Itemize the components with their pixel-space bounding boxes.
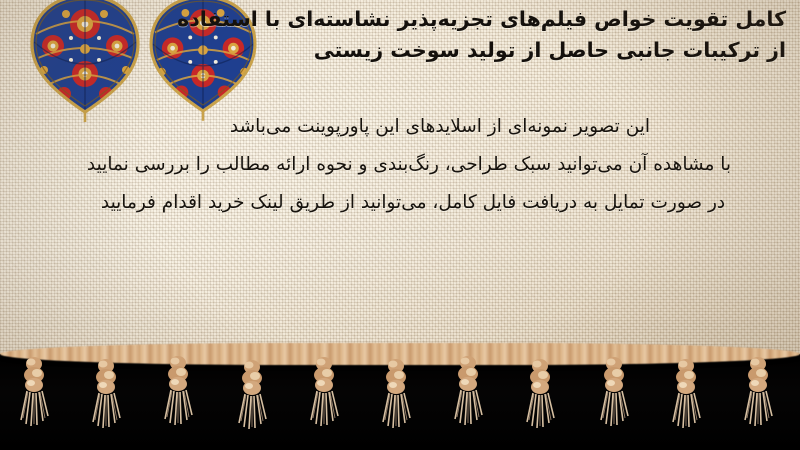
slide-title: کامل تقویت خواص فیلم‌های تجزیه‌پذیر نشاس… — [214, 4, 786, 66]
title-line-2: از ترکیبات جانبی حاصل از تولید سوخت زیست… — [214, 35, 786, 66]
tassel-row-icon — [0, 354, 800, 450]
body-line-2: با مشاهده آن می‌توانید سبک طراحی، رنگ‌بن… — [14, 146, 782, 184]
slide-body: این تصویر نمونه‌ای از اسلایدهای این پاور… — [14, 108, 782, 222]
title-line-1: کامل تقویت خواص فیلم‌های تجزیه‌پذیر نشاس… — [214, 4, 786, 35]
body-line-3: در صورت تمایل به دریافت فایل کامل، می‌تو… — [14, 184, 782, 222]
bottom-fringe-band — [0, 354, 800, 450]
body-line-1: این تصویر نمونه‌ای از اسلایدهای این پاور… — [14, 108, 782, 146]
persian-medallion-left-icon — [26, 0, 144, 122]
presentation-slide: کامل تقویت خواص فیلم‌های تجزیه‌پذیر نشاس… — [0, 0, 800, 450]
